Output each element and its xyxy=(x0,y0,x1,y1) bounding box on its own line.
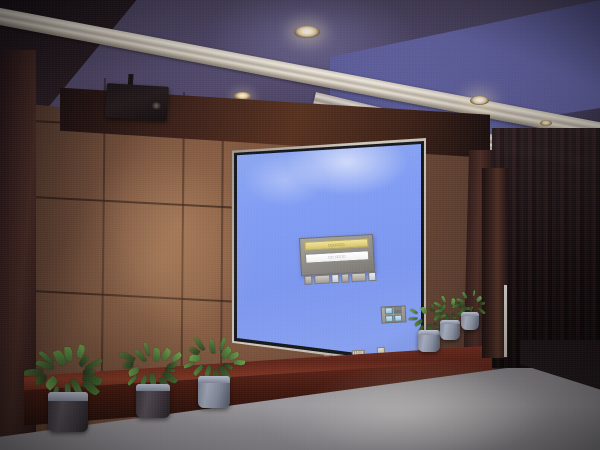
plant-leaf xyxy=(160,347,172,361)
plant-leaf xyxy=(24,369,43,376)
dialog-button-4[interactable] xyxy=(341,273,350,282)
osd-cell-2 xyxy=(394,307,402,314)
plant-pot-rim xyxy=(48,392,88,401)
downlight-7 xyxy=(540,120,552,126)
plant-pot-rim xyxy=(440,320,460,324)
plant-leaf xyxy=(209,339,215,354)
plant-leaf xyxy=(420,306,427,314)
plant-leaf xyxy=(152,348,162,362)
plant-leaf xyxy=(143,342,150,357)
plant-leaf xyxy=(234,359,245,366)
dialog-button-2[interactable] xyxy=(314,274,330,284)
curtain-shading xyxy=(492,128,600,368)
potted-plant-right-1 xyxy=(418,330,440,352)
plant-pot xyxy=(136,384,170,418)
plant-leaf xyxy=(64,347,72,361)
plant-pot xyxy=(440,320,460,340)
on-screen-display-badge[interactable] xyxy=(381,305,407,323)
dialog-button-5[interactable] xyxy=(351,272,367,282)
plant-foliage xyxy=(117,325,188,391)
plant-leaf xyxy=(410,308,418,315)
potted-plant-right-3 xyxy=(461,312,479,330)
potted-plant-left xyxy=(48,392,88,432)
plant-pot xyxy=(48,392,88,432)
potted-plant-center-left xyxy=(136,384,170,418)
plant-foliage xyxy=(26,322,110,400)
plant-leaf xyxy=(190,354,201,362)
dialog-button-1[interactable] xyxy=(304,275,313,284)
plant-pot xyxy=(198,376,230,408)
osd-cell-3 xyxy=(385,315,393,322)
dialog-button-3[interactable] xyxy=(331,273,340,282)
downlight-5 xyxy=(470,96,489,105)
projected-dialog[interactable]: □□□□□□ □□ □□□□ xyxy=(299,234,375,276)
plant-leaf xyxy=(462,291,467,298)
plant-leaf xyxy=(409,317,418,321)
plant-pot-rim xyxy=(418,330,440,335)
potted-plant-right-2 xyxy=(440,320,460,340)
potted-plant-center xyxy=(198,376,230,408)
room-scene: □□□□□□ □□ □□□□ xyxy=(0,0,600,450)
dialog-title-bar: □□□□□□ xyxy=(304,238,368,251)
plant-leaf xyxy=(472,290,476,297)
plant-leaf xyxy=(480,302,486,306)
plant-leaf xyxy=(182,362,194,369)
plant-leaf xyxy=(166,362,177,368)
plant-leaf xyxy=(192,364,204,376)
plant-pot xyxy=(418,330,440,352)
plant-foliage xyxy=(180,320,247,382)
plant-leaf xyxy=(434,302,442,309)
plant-foliage xyxy=(451,281,489,316)
plant-pot xyxy=(461,312,479,330)
osd-cell-1 xyxy=(385,307,393,314)
ceiling-projector[interactable] xyxy=(105,83,169,121)
plant-leaf xyxy=(435,309,444,313)
plant-leaf xyxy=(452,303,461,308)
door-light-gap xyxy=(504,285,507,357)
downlight-1 xyxy=(294,26,320,38)
plant-leaf xyxy=(441,296,446,304)
plant-pot-rim xyxy=(198,376,230,383)
dialog-button-6[interactable] xyxy=(368,271,377,280)
dialog-text-field[interactable]: □□ □□□□ xyxy=(305,250,369,264)
projector-lens-icon xyxy=(152,102,161,110)
osd-cell-4 xyxy=(394,315,402,322)
plant-pot-rim xyxy=(136,384,170,391)
plant-pot-rim xyxy=(461,312,479,316)
